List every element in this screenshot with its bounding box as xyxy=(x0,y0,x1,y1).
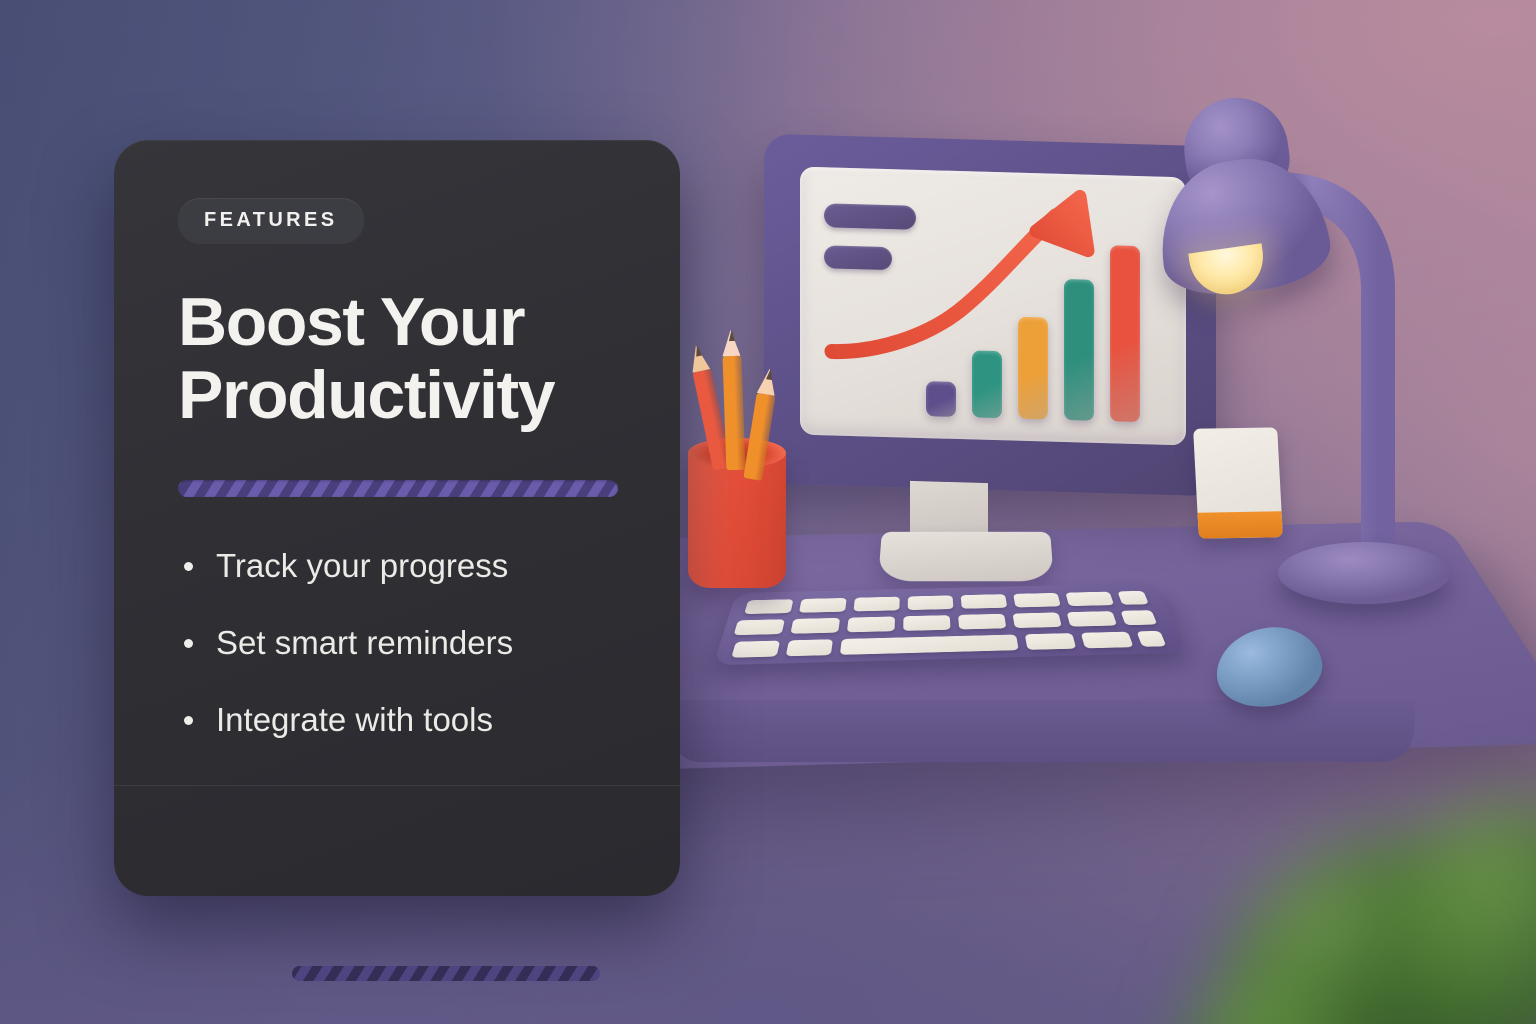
keyboard-key[interactable] xyxy=(908,595,954,610)
keyboard-key[interactable] xyxy=(1120,610,1157,625)
page-title: Boost Your Productivity xyxy=(178,286,628,432)
keyboard-key[interactable] xyxy=(1117,591,1149,605)
desk-front-edge xyxy=(670,700,1415,762)
pencil-shaft xyxy=(722,356,745,471)
keyboard-key[interactable] xyxy=(744,599,793,614)
lamp-base xyxy=(1278,542,1450,604)
growth-arrow-icon xyxy=(800,167,1186,446)
feature-list: Track your progressSet smart remindersIn… xyxy=(178,549,634,780)
monitor-stand-foot xyxy=(878,532,1054,581)
keyboard[interactable] xyxy=(713,583,1187,665)
list-item: Track your progress xyxy=(178,549,634,582)
keyboard-key[interactable] xyxy=(1025,633,1077,650)
keyboard-key[interactable] xyxy=(1013,593,1061,608)
features-badge: FEATURES xyxy=(178,198,364,244)
keyboard-key[interactable] xyxy=(1137,631,1167,647)
pencil xyxy=(722,330,746,471)
plant-leaf xyxy=(1167,954,1396,1024)
scene: FEATURES Boost Your Productivity Track y… xyxy=(0,0,1536,1024)
keyboard-key[interactable] xyxy=(790,618,840,634)
keyboard-key[interactable] xyxy=(799,598,847,613)
progress-bar-bottom xyxy=(292,966,600,981)
plant-bokeh xyxy=(1176,784,1536,1024)
title-line-1: Boost Your xyxy=(178,284,524,360)
keyboard-spacebar[interactable] xyxy=(840,635,1019,655)
keyboard-key[interactable] xyxy=(853,597,899,612)
keyboard-key[interactable] xyxy=(1081,632,1134,649)
list-item: Set smart reminders xyxy=(178,626,634,659)
card-divider xyxy=(114,785,680,786)
lamp-head[interactable] xyxy=(1142,87,1336,308)
keyboard-key[interactable] xyxy=(903,615,950,631)
keyboard-key[interactable] xyxy=(1065,592,1114,607)
keyboard-key[interactable] xyxy=(847,616,895,632)
monitor-screen xyxy=(800,167,1186,446)
keyboard-key[interactable] xyxy=(786,639,833,656)
title-line-2: Productivity xyxy=(178,357,554,433)
keyboard-key[interactable] xyxy=(958,614,1006,630)
progress-bar-top xyxy=(178,480,618,497)
keyboard-key[interactable] xyxy=(1067,611,1118,627)
keyboard-key[interactable] xyxy=(961,594,1008,609)
keyboard-key[interactable] xyxy=(734,619,785,635)
plant-leaf xyxy=(1333,768,1536,1024)
keyboard-key[interactable] xyxy=(731,641,780,658)
feature-card: FEATURES Boost Your Productivity Track y… xyxy=(114,140,680,896)
monitor-stand-neck xyxy=(910,481,988,539)
list-item: Integrate with tools xyxy=(178,703,634,736)
plant-leaf xyxy=(1185,804,1536,1024)
pencil-lead xyxy=(728,330,734,341)
keyboard-key[interactable] xyxy=(1012,612,1061,628)
